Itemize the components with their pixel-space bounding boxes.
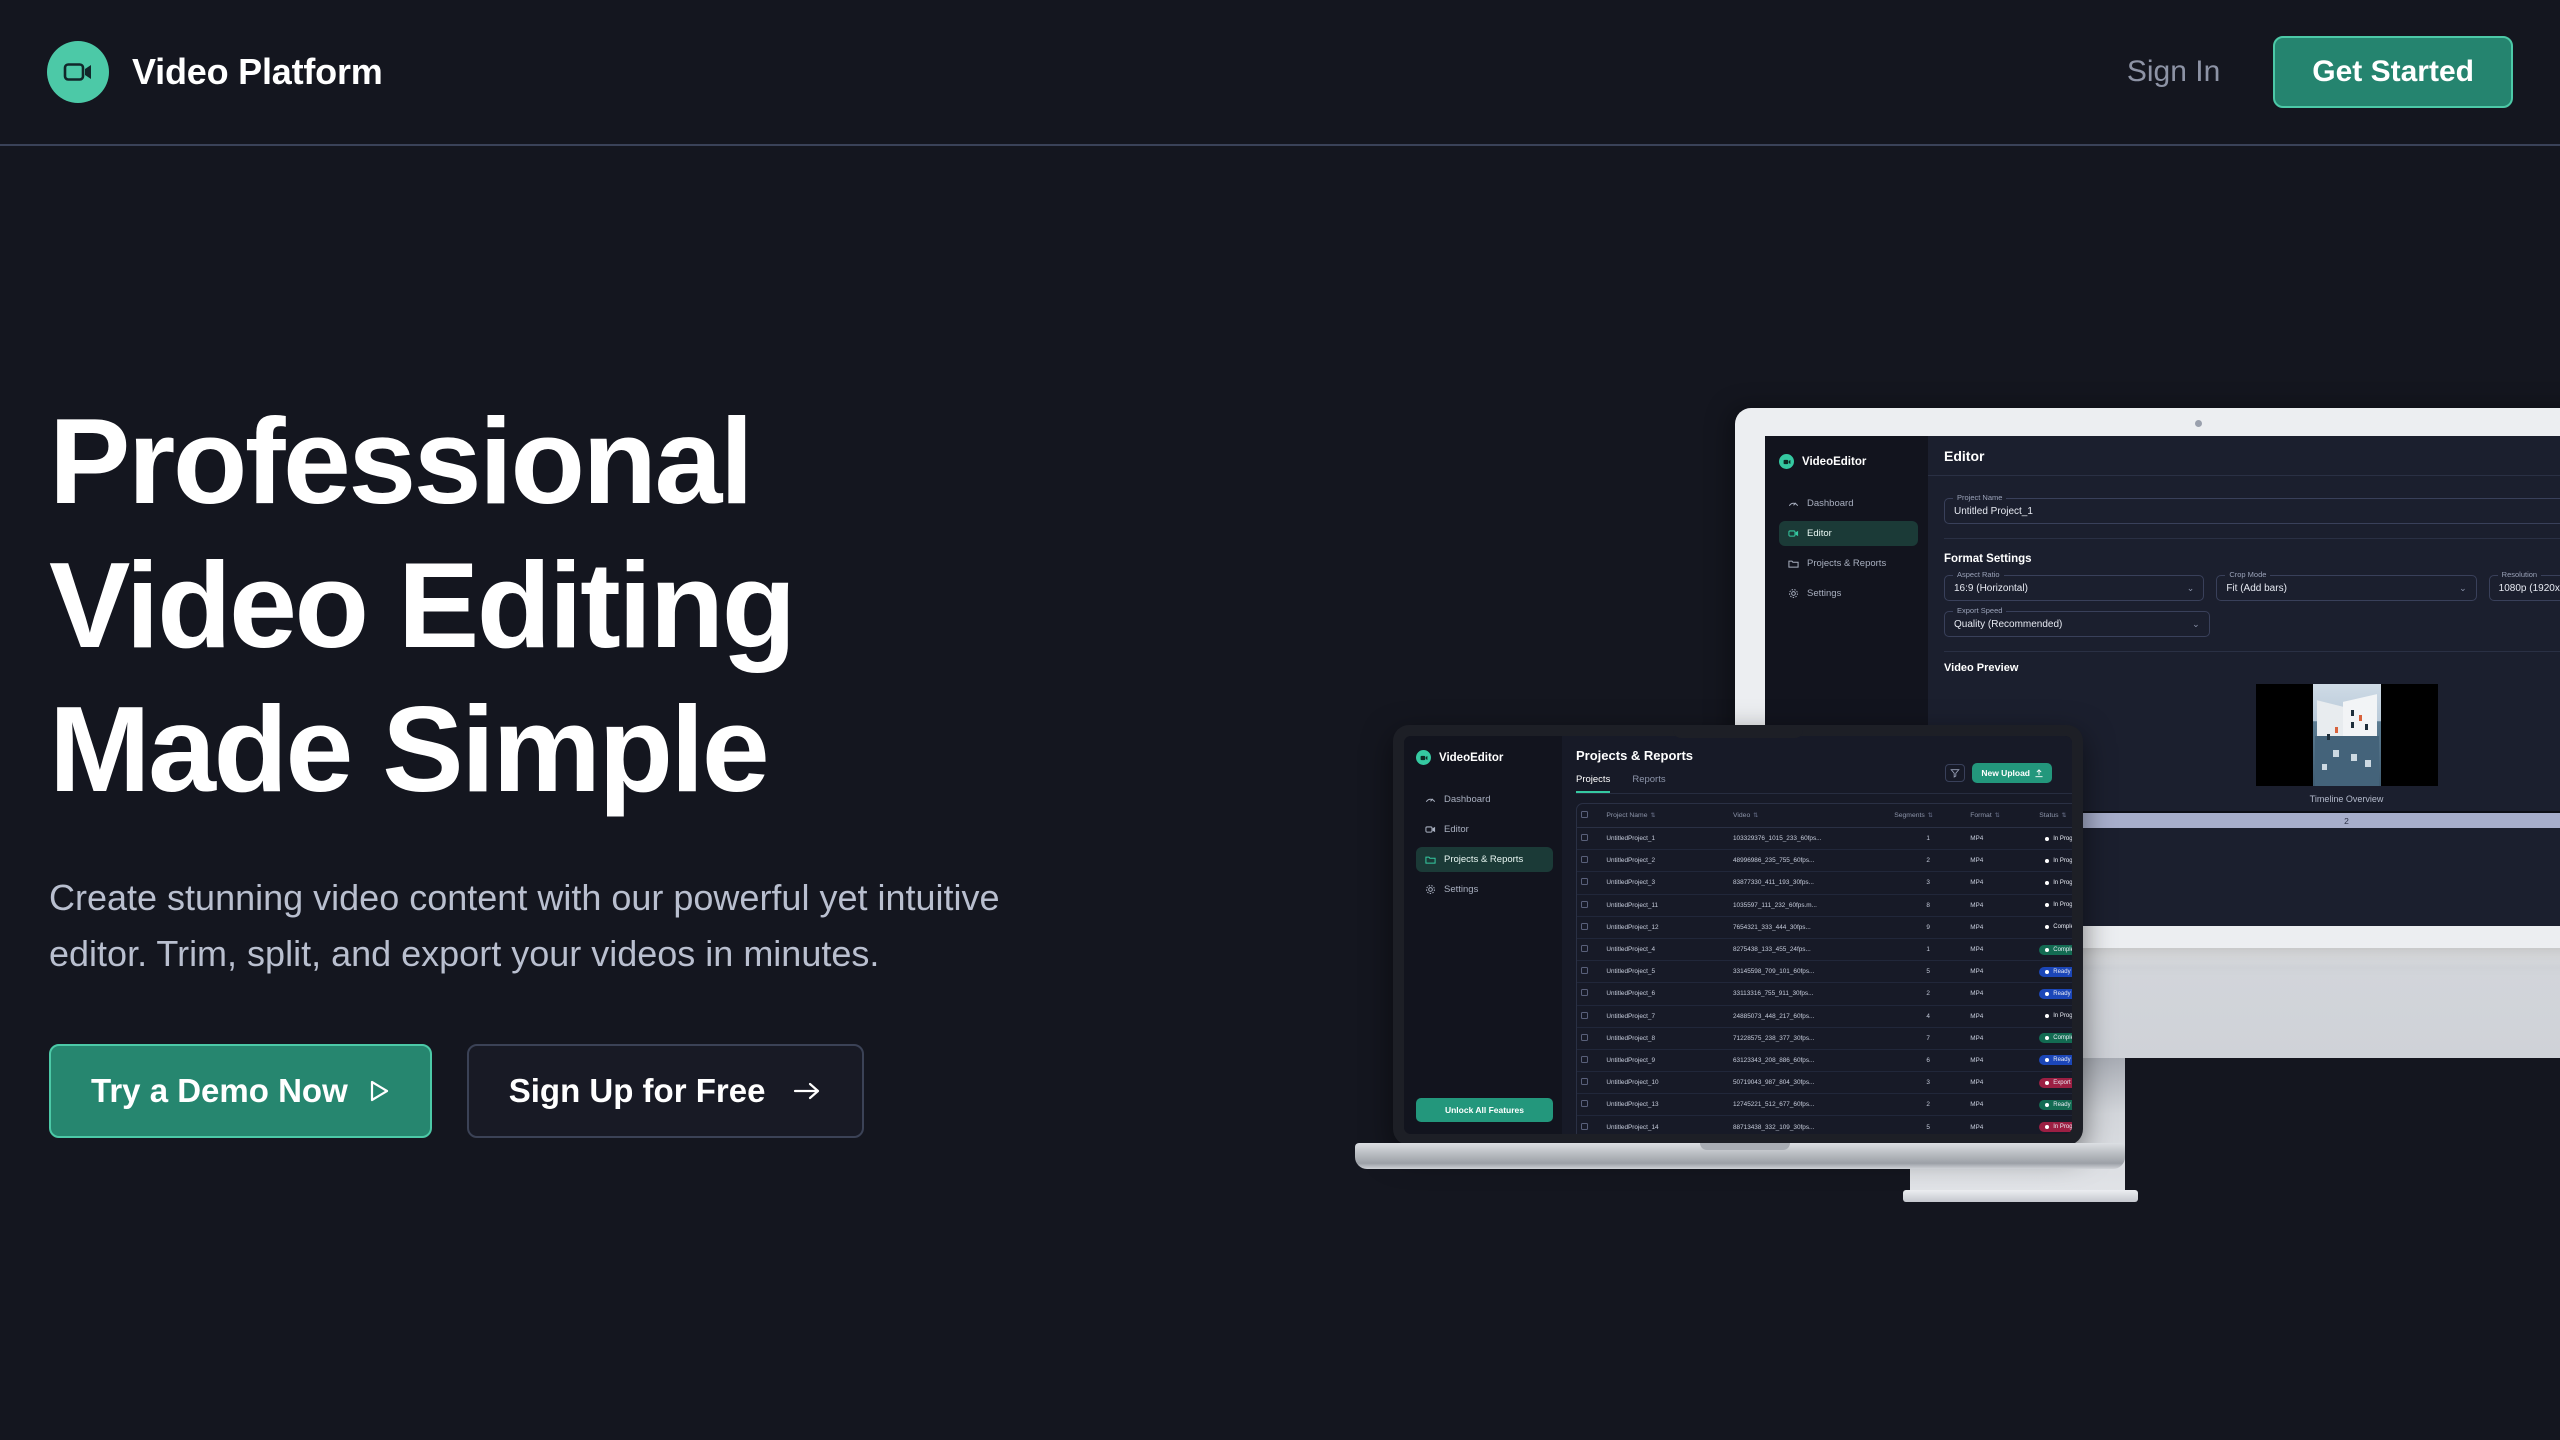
- table-row[interactable]: UntitledProject_871228575_238_377_30fps.…: [1577, 1027, 2072, 1049]
- row-checkbox-cell[interactable]: [1577, 1116, 1602, 1134]
- site-header: Video Platform Sign In Get Started: [0, 0, 2560, 146]
- webcam-dot-icon: [2195, 420, 2202, 427]
- status-badge: In Progress: [2039, 900, 2072, 910]
- cell-project-name: UntitledProject_1: [1602, 828, 1729, 850]
- row-checkbox-cell[interactable]: [1577, 1005, 1602, 1027]
- table-row[interactable]: UntitledProject_1488713438_332_109_30fps…: [1577, 1116, 2072, 1134]
- sidebar-label: Settings: [1807, 588, 1841, 599]
- cell-format: MP4: [1966, 1049, 2035, 1071]
- cell-segments: 6: [1890, 1049, 1966, 1071]
- cell-segments: 4: [1890, 1005, 1966, 1027]
- landing-page: Video Platform Sign In Get Started Profe…: [0, 0, 2560, 1440]
- laptop-screen: VideoEditor Dashboard Edi: [1404, 736, 2072, 1134]
- status-badge: Complete: [2039, 922, 2072, 932]
- cell-segments: 2: [1890, 983, 1966, 1005]
- export-speed-value: Quality (Recommended): [1954, 619, 2062, 630]
- status-dot-icon: [2045, 859, 2049, 863]
- editor-topbar: Editor Save Export: [1928, 436, 2560, 476]
- monitor-foot: [1903, 1190, 2138, 1202]
- product-mockups: VideoEditor Dashboard Editor: [1355, 400, 2560, 1200]
- hero-title-line-1: Professional: [49, 390, 1049, 534]
- status-dot-icon: [2045, 881, 2049, 885]
- projects-brand: VideoEditor: [1416, 750, 1553, 765]
- cell-project-name: UntitledProject_3: [1602, 872, 1729, 894]
- status-dot-icon: [2045, 1058, 2049, 1062]
- resolution-label: Resolution: [2498, 570, 2541, 579]
- row-checkbox[interactable]: [1581, 1012, 1588, 1019]
- status-badge: In Progress: [2039, 878, 2072, 888]
- laptop-notch: [1673, 725, 1803, 738]
- status-label: In Progress: [2053, 858, 2072, 864]
- projects-main: Projects & Reports New Upload: [1562, 736, 2072, 1134]
- cell-segments: 7: [1890, 1027, 1966, 1049]
- cell-status: Complete: [2035, 938, 2072, 960]
- projects-toolbar: New Upload: [1945, 763, 2052, 783]
- get-started-button[interactable]: Get Started: [2273, 36, 2513, 109]
- projects-sidebar: VideoEditor Dashboard Edi: [1404, 736, 1562, 1134]
- sidebar-label: Settings: [1444, 884, 1478, 895]
- sign-up-free-button[interactable]: Sign Up for Free: [467, 1044, 865, 1138]
- table-body: UntitledProject_1103329376_1015_233_60fp…: [1577, 828, 2072, 1135]
- status-label: In Progress: [2053, 902, 2072, 908]
- status-label: Ready for Export: [2053, 969, 2072, 975]
- row-checkbox-cell[interactable]: [1577, 1072, 1602, 1094]
- status-dot-icon: [2045, 948, 2049, 952]
- status-badge: Complete: [2039, 945, 2072, 955]
- cell-video: 83877330_411_193_30fps...: [1729, 872, 1890, 894]
- cell-segments: 1: [1890, 938, 1966, 960]
- cell-project-name: UntitledProject_11: [1602, 894, 1729, 916]
- sidebar-label: Projects & Reports: [1807, 558, 1886, 569]
- table-row[interactable]: UntitledProject_633113316_755_911_30fps.…: [1577, 983, 2072, 1005]
- row-checkbox-cell[interactable]: [1577, 828, 1602, 850]
- cell-segments: 2: [1890, 1094, 1966, 1116]
- divider: [1944, 538, 2560, 539]
- cell-format: MP4: [1966, 872, 2035, 894]
- status-badge: In Progress: [2039, 1011, 2072, 1021]
- table-row[interactable]: UntitledProject_111035597_111_232_60fps.…: [1577, 894, 2072, 916]
- sidebar-item-dashboard[interactable]: Dashboard: [1779, 491, 1918, 516]
- status-badge: In Progress: [2039, 834, 2072, 844]
- row-checkbox-cell[interactable]: [1577, 850, 1602, 872]
- hero-subtitle: Create stunning video content with our p…: [49, 870, 1049, 982]
- sidebar-item-settings[interactable]: Settings: [1779, 581, 1918, 606]
- table-row[interactable]: UntitledProject_248996986_235_755_60fps.…: [1577, 850, 2072, 872]
- row-checkbox-cell[interactable]: [1577, 872, 1602, 894]
- status-badge: Ready for Export: [2039, 1055, 2072, 1065]
- arrow-right-icon: [792, 1080, 822, 1102]
- status-dot-icon: [2045, 1103, 2049, 1107]
- cell-video: 50719043_987_804_30fps...: [1729, 1072, 1890, 1094]
- table-header-row: Project Name⇅ Video⇅ Segments⇅ Format⇅ S…: [1577, 804, 2072, 828]
- cell-status: In Progress: [2035, 872, 2072, 894]
- hero-cta-group: Try a Demo Now Sign Up for Free: [49, 1044, 1049, 1138]
- brand[interactable]: Video Platform: [47, 41, 383, 103]
- row-checkbox[interactable]: [1581, 856, 1588, 863]
- status-dot-icon: [2045, 903, 2049, 907]
- cell-segments: 1: [1890, 828, 1966, 850]
- project-name-label: Project Name: [1953, 493, 2006, 502]
- video-camera-icon: [1779, 454, 1794, 469]
- cell-format: MP4: [1966, 916, 2035, 938]
- cell-format: MP4: [1966, 983, 2035, 1005]
- cell-project-name: UntitledProject_6: [1602, 983, 1729, 1005]
- status-label: Complete: [2053, 947, 2072, 953]
- cell-video: 33145598_709_101_60fps...: [1729, 961, 1890, 983]
- cell-format: MP4: [1966, 1005, 2035, 1027]
- status-label: In Progress: [2053, 836, 2072, 842]
- chevron-down-icon: ⌄: [2187, 583, 2195, 594]
- cell-format: MP4: [1966, 894, 2035, 916]
- sidebar-item-editor[interactable]: Editor: [1416, 817, 1553, 842]
- table-row[interactable]: UntitledProject_533145598_709_101_60fps.…: [1577, 961, 2072, 983]
- gear-icon: [1788, 588, 1799, 599]
- projects-page-title: Projects & Reports: [1576, 748, 2072, 763]
- cell-project-name: UntitledProject_8: [1602, 1027, 1729, 1049]
- cell-project-name: UntitledProject_13: [1602, 1094, 1729, 1116]
- table-row[interactable]: UntitledProject_1050719043_987_804_30fps…: [1577, 1072, 2072, 1094]
- sidebar-label: Editor: [1444, 824, 1469, 835]
- cell-status: Ready for Export: [2035, 1049, 2072, 1071]
- editor-brand: VideoEditor: [1779, 454, 1918, 469]
- status-dot-icon: [2045, 992, 2049, 996]
- try-demo-label: Try a Demo Now: [91, 1072, 348, 1110]
- play-triangle-icon: [368, 1079, 390, 1103]
- sidebar-item-dashboard[interactable]: Dashboard: [1416, 787, 1553, 812]
- cell-video: 71228575_238_377_30fps...: [1729, 1027, 1890, 1049]
- status-dot-icon: [2045, 925, 2049, 929]
- sidebar-label: Dashboard: [1807, 498, 1853, 509]
- try-demo-button[interactable]: Try a Demo Now: [49, 1044, 432, 1138]
- gear-icon: [1425, 884, 1436, 895]
- cell-segments: 8: [1890, 894, 1966, 916]
- cell-format: MP4: [1966, 1027, 2035, 1049]
- sidebar-label: Editor: [1807, 528, 1832, 539]
- status-label: Complete: [2053, 1035, 2072, 1041]
- tab-projects[interactable]: Projects: [1576, 774, 1610, 793]
- cell-video: 48996986_235_755_60fps...: [1729, 850, 1890, 872]
- projects-table: Project Name⇅ Video⇅ Segments⇅ Format⇅ S…: [1576, 803, 2072, 1134]
- cell-project-name: UntitledProject_5: [1602, 961, 1729, 983]
- row-checkbox[interactable]: [1581, 923, 1588, 930]
- row-checkbox-cell[interactable]: [1577, 938, 1602, 960]
- status-badge: In Progress: [2039, 1122, 2072, 1132]
- cell-segments: 5: [1890, 1116, 1966, 1134]
- video-camera-icon: [47, 41, 109, 103]
- cell-video: 103329376_1015_233_60fps...: [1729, 828, 1890, 850]
- aspect-ratio-label: Aspect Ratio: [1953, 570, 2004, 579]
- cell-format: MP4: [1966, 1072, 2035, 1094]
- resolution-select[interactable]: Resolution 1080p (1920x1080) ⌄: [2489, 575, 2560, 601]
- upload-icon: [2035, 769, 2043, 778]
- header-nav: Sign In Get Started: [2127, 36, 2513, 109]
- status-badge: Export Failed: [2039, 1078, 2072, 1088]
- row-checkbox-cell[interactable]: [1577, 1094, 1602, 1116]
- video-camera-icon: [1425, 824, 1436, 835]
- crop-mode-value: Fit (Add bars): [2226, 583, 2287, 594]
- status-label: Ready for Export: [2053, 991, 2072, 997]
- status-badge: In Progress: [2039, 856, 2072, 866]
- sign-in-link[interactable]: Sign In: [2127, 55, 2220, 89]
- status-badge: Ready for Export: [2039, 1100, 2072, 1110]
- cell-video: 1035597_111_232_60fps.m...: [1729, 894, 1890, 916]
- cell-status: In Progress: [2035, 1005, 2072, 1027]
- cell-status: Export Failed: [2035, 1072, 2072, 1094]
- table-row[interactable]: UntitledProject_963123343_208_886_60fps.…: [1577, 1049, 2072, 1071]
- row-checkbox-cell[interactable]: [1577, 961, 1602, 983]
- cell-format: MP4: [1966, 961, 2035, 983]
- cell-video: 12745221_512_677_60fps...: [1729, 1094, 1890, 1116]
- format-fields-row-2: Export Speed Quality (Recommended) ⌄: [1944, 601, 2560, 637]
- video-player[interactable]: [2256, 684, 2438, 786]
- status-label: In Progress: [2053, 1124, 2072, 1130]
- cell-project-name: UntitledProject_14: [1602, 1116, 1729, 1134]
- table-row[interactable]: UntitledProject_48275438_133_455_24fps..…: [1577, 938, 2072, 960]
- cell-format: MP4: [1966, 938, 2035, 960]
- row-checkbox[interactable]: [1581, 1034, 1588, 1041]
- row-checkbox[interactable]: [1581, 1100, 1588, 1107]
- cell-status: Ready for Export: [2035, 961, 2072, 983]
- table-row[interactable]: UntitledProject_1103329376_1015_233_60fp…: [1577, 828, 2072, 850]
- row-checkbox[interactable]: [1581, 834, 1588, 841]
- format-settings-title: Format Settings: [1944, 553, 2560, 565]
- editor-brand-name: VideoEditor: [1802, 456, 1866, 468]
- sidebar-label: Projects & Reports: [1444, 854, 1523, 865]
- brand-name: Video Platform: [132, 51, 383, 93]
- table-row[interactable]: UntitledProject_127654321_333_444_30fps.…: [1577, 916, 2072, 938]
- sort-icon[interactable]: ⇅: [1928, 813, 1933, 819]
- status-badge: Ready for Export: [2039, 989, 2072, 999]
- cell-project-name: UntitledProject_9: [1602, 1049, 1729, 1071]
- row-checkbox[interactable]: [1581, 967, 1588, 974]
- sidebar-item-projects-reports[interactable]: Projects & Reports: [1416, 847, 1553, 872]
- row-checkbox[interactable]: [1581, 1078, 1588, 1085]
- new-upload-label: New Upload: [1981, 768, 2030, 778]
- export-speed-label: Export Speed: [1953, 606, 2006, 615]
- hero-title-line-3: Made Simple: [49, 678, 1049, 822]
- cell-video: 7654321_333_444_30fps...: [1729, 916, 1890, 938]
- cell-project-name: UntitledProject_7: [1602, 1005, 1729, 1027]
- chevron-down-icon: ⌄: [2192, 619, 2200, 630]
- cell-project-name: UntitledProject_12: [1602, 916, 1729, 938]
- sign-up-label: Sign Up for Free: [509, 1072, 766, 1110]
- row-checkbox-cell[interactable]: [1577, 916, 1602, 938]
- chevron-down-icon: ⌄: [2459, 583, 2467, 594]
- cell-status: Complete: [2035, 916, 2072, 938]
- cell-segments: 9: [1890, 916, 1966, 938]
- project-name-value: Untitled Project_1: [1954, 506, 2033, 517]
- cell-video: 8275438_133_455_24fps...: [1729, 938, 1890, 960]
- sidebar-label: Dashboard: [1444, 794, 1490, 805]
- status-label: Export Failed: [2053, 1080, 2072, 1086]
- col-status: Status⇅: [2035, 804, 2072, 828]
- laptop-device: VideoEditor Dashboard Edi: [1355, 725, 2125, 1185]
- hero-title-line-2: Video Editing: [49, 534, 1049, 678]
- cell-status: In Progress: [2035, 828, 2072, 850]
- cell-video: 24885073_448_217_60fps...: [1729, 1005, 1890, 1027]
- status-label: Ready for Export: [2053, 1057, 2072, 1063]
- row-checkbox[interactable]: [1581, 945, 1588, 952]
- crop-mode-select[interactable]: Crop Mode Fit (Add bars) ⌄: [2216, 575, 2476, 601]
- gauge-icon: [1788, 498, 1799, 509]
- cell-status: In Progress: [2035, 850, 2072, 872]
- sidebar-item-projects-reports[interactable]: Projects & Reports: [1779, 551, 1918, 576]
- status-label: Ready for Export: [2053, 1102, 2072, 1108]
- tab-reports[interactable]: Reports: [1632, 774, 1665, 793]
- divider: [1944, 651, 2560, 652]
- status-dot-icon: [2045, 837, 2049, 841]
- sidebar-item-editor[interactable]: Editor: [1779, 521, 1918, 546]
- new-upload-button[interactable]: New Upload: [1972, 763, 2052, 783]
- export-speed-select[interactable]: Export Speed Quality (Recommended) ⌄: [1944, 611, 2210, 637]
- cell-format: MP4: [1966, 1116, 2035, 1134]
- video-camera-icon: [1788, 528, 1799, 539]
- folder-icon: [1425, 854, 1436, 865]
- hero-section: Professional Video Editing Made Simple C…: [49, 390, 1049, 1138]
- gauge-icon: [1425, 794, 1436, 805]
- laptop-base-notch: [1700, 1143, 1790, 1150]
- table: Project Name⇅ Video⇅ Segments⇅ Format⇅ S…: [1577, 804, 2072, 1134]
- resolution-value: 1080p (1920x1080): [2499, 583, 2560, 594]
- page-title: Professional Video Editing Made Simple: [49, 390, 1049, 822]
- cell-project-name: UntitledProject_4: [1602, 938, 1729, 960]
- unlock-all-features-button[interactable]: Unlock All Features: [1416, 1098, 1553, 1122]
- cell-segments: 3: [1890, 1072, 1966, 1094]
- cell-format: MP4: [1966, 1094, 2035, 1116]
- cell-segments: 3: [1890, 872, 1966, 894]
- aspect-ratio-value: 16:9 (Horizontal): [1954, 583, 2028, 594]
- row-checkbox[interactable]: [1581, 901, 1588, 908]
- editor-page-title: Editor: [1944, 448, 1984, 464]
- cell-status: Ready for Export: [2035, 983, 2072, 1005]
- cell-segments: 5: [1890, 961, 1966, 983]
- status-dot-icon: [2045, 1081, 2049, 1085]
- status-dot-icon: [2045, 1014, 2049, 1018]
- status-dot-icon: [2045, 1125, 2049, 1129]
- cell-project-name: UntitledProject_2: [1602, 850, 1729, 872]
- status-dot-icon: [2045, 970, 2049, 974]
- status-label: In Progress: [2053, 880, 2072, 886]
- cell-video: 33113316_755_911_30fps...: [1729, 983, 1890, 1005]
- select-all-checkbox[interactable]: [1581, 811, 1588, 818]
- row-checkbox[interactable]: [1581, 1056, 1588, 1063]
- cell-status: In Progress: [2035, 894, 2072, 916]
- cell-status: In Progress: [2035, 1116, 2072, 1134]
- col-project-name: Project Name⇅: [1602, 804, 1729, 828]
- cell-format: MP4: [1966, 850, 2035, 872]
- col-video: Video⇅: [1729, 804, 1890, 828]
- cell-project-name: UntitledProject_10: [1602, 1072, 1729, 1094]
- sort-icon[interactable]: ⇅: [1651, 813, 1656, 819]
- row-checkbox-cell[interactable]: [1577, 894, 1602, 916]
- folder-icon: [1788, 558, 1799, 569]
- cell-video: 88713438_332_109_30fps...: [1729, 1116, 1890, 1134]
- status-badge: Complete: [2039, 1033, 2072, 1043]
- col-format: Format⇅: [1966, 804, 2035, 828]
- row-checkbox-cell[interactable]: [1577, 1027, 1602, 1049]
- status-dot-icon: [2045, 1036, 2049, 1040]
- row-checkbox-cell[interactable]: [1577, 983, 1602, 1005]
- cell-segments: 2: [1890, 850, 1966, 872]
- laptop-lid: VideoEditor Dashboard Edi: [1393, 725, 2083, 1145]
- status-label: In Progress: [2053, 1013, 2072, 1019]
- cell-status: Ready for Export: [2035, 1094, 2072, 1116]
- status-badge: Ready for Export: [2039, 967, 2072, 977]
- video-preview-header: Video Preview Video player size: [1944, 662, 2560, 674]
- project-name-field[interactable]: Project Name Untitled Project_1: [1944, 498, 2560, 524]
- status-label: Complete: [2053, 924, 2072, 930]
- aspect-ratio-select[interactable]: Aspect Ratio 16:9 (Horizontal) ⌄: [1944, 575, 2204, 601]
- sort-icon[interactable]: ⇅: [1995, 813, 2000, 819]
- sort-icon[interactable]: ⇅: [2062, 813, 2067, 819]
- table-row[interactable]: UntitledProject_383877330_411_193_30fps.…: [1577, 872, 2072, 894]
- cell-status: Complete: [2035, 1027, 2072, 1049]
- row-checkbox[interactable]: [1581, 878, 1588, 885]
- sidebar-item-settings[interactable]: Settings: [1416, 877, 1553, 902]
- row-checkbox[interactable]: [1581, 1123, 1588, 1130]
- video-frame-image: [2313, 684, 2381, 786]
- crop-mode-label: Crop Mode: [2225, 570, 2270, 579]
- row-checkbox-cell[interactable]: [1577, 1049, 1602, 1071]
- sort-icon[interactable]: ⇅: [1753, 813, 1758, 819]
- table-row[interactable]: UntitledProject_1312745221_512_677_60fps…: [1577, 1094, 2072, 1116]
- col-segments: Segments⇅: [1890, 804, 1966, 828]
- video-preview-title: Video Preview: [1944, 662, 2018, 674]
- projects-brand-name: VideoEditor: [1439, 752, 1503, 764]
- video-camera-icon: [1416, 750, 1431, 765]
- cell-format: MP4: [1966, 828, 2035, 850]
- format-fields-row-1: Aspect Ratio 16:9 (Horizontal) ⌄ Crop Mo…: [1944, 565, 2560, 601]
- cell-video: 63123343_208_886_60fps...: [1729, 1049, 1890, 1071]
- table-row[interactable]: UntitledProject_724885073_448_217_60fps.…: [1577, 1005, 2072, 1027]
- row-checkbox[interactable]: [1581, 989, 1588, 996]
- filter-icon[interactable]: [1945, 764, 1965, 782]
